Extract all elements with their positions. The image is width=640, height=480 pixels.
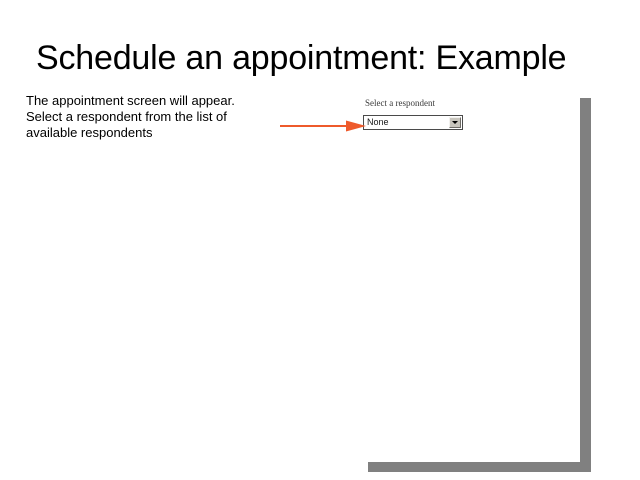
respondent-field-label: Select a respondent [363, 98, 473, 109]
chevron-down-icon[interactable] [449, 117, 461, 128]
respondent-select-value: None [364, 117, 389, 128]
body-paragraph: The appointment screen will appear. Sele… [26, 93, 261, 141]
right-arrow-icon [280, 119, 366, 133]
frame-shadow-right [580, 98, 591, 472]
embedded-form-screenshot: Select a respondent None [363, 98, 473, 130]
page-title: Schedule an appointment: Example [36, 38, 616, 78]
frame-shadow-bottom [368, 462, 591, 472]
respondent-select[interactable]: None [363, 115, 463, 130]
slide-canvas: Schedule an appointment: Example The app… [0, 0, 640, 480]
